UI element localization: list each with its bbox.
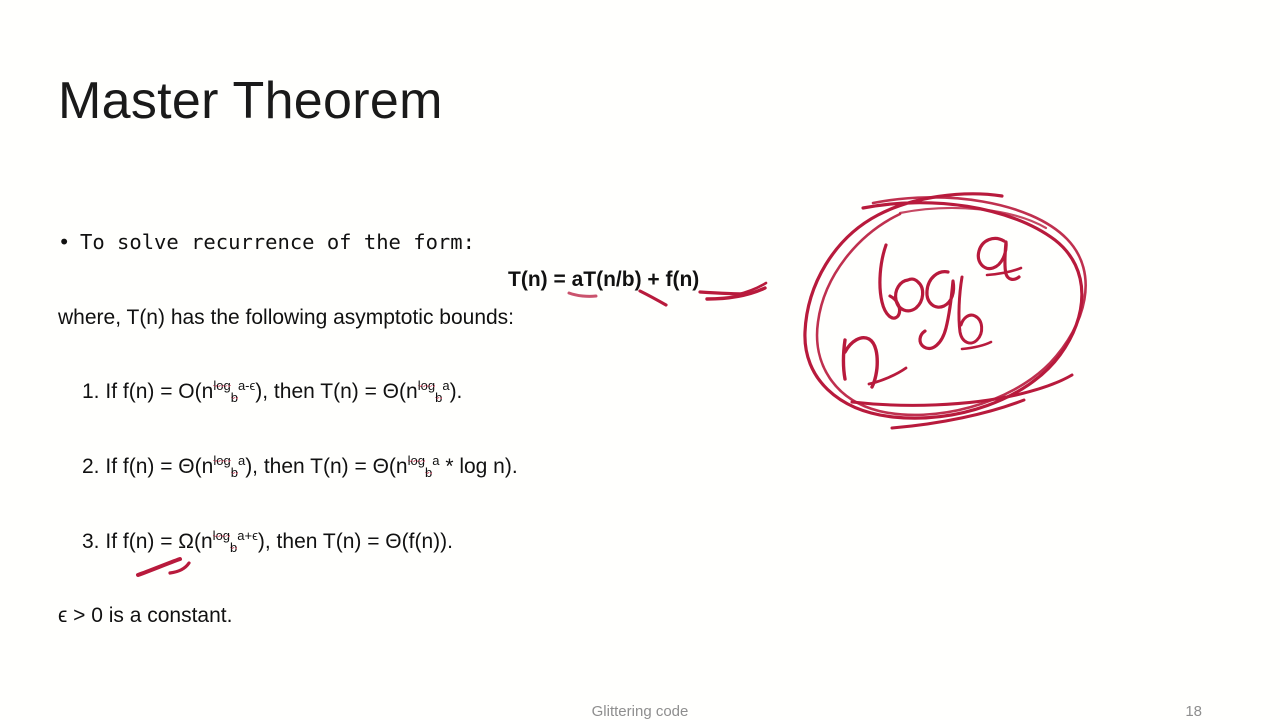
- where-line: where, T(n) has the following asymptotic…: [58, 306, 514, 330]
- bullet-line: •To solve recurrence of the form:: [58, 230, 475, 254]
- ink-handwriting-sub-b: [959, 277, 991, 349]
- case-3-prefix: If f(n) = Ω(n: [105, 530, 212, 553]
- ink-ellipse: [805, 194, 1086, 418]
- slide-canvas: Master Theorem •To solve recurrence of t…: [0, 0, 1280, 720]
- page-number: 18: [1185, 703, 1202, 720]
- case-1-number: 1.: [82, 380, 100, 403]
- case-2: 2. If f(n) = Θ(nlogba), then T(n) = Θ(nl…: [82, 455, 518, 479]
- case-3-sup-arg: a+ϵ: [237, 528, 258, 543]
- case-1-suffix: ).: [450, 380, 463, 403]
- case-1-sup-arg-2: a: [442, 378, 449, 393]
- footer-label: Glittering code: [0, 703, 1280, 720]
- case-1-middle: ), then T(n) = Θ(n: [255, 380, 417, 403]
- ink-handwriting-log: [880, 245, 954, 348]
- case-2-suffix: * log n).: [439, 455, 517, 478]
- case-1: 1. If f(n) = O(nlogba-ϵ), then T(n) = Θ(…: [82, 380, 462, 404]
- ink-handwriting-sup-a: [978, 238, 1021, 279]
- case-1-prefix: If f(n) = O(n: [105, 380, 213, 403]
- bullet-marker-icon: •: [58, 230, 80, 254]
- case-2-prefix: If f(n) = Θ(n: [105, 455, 213, 478]
- case-3-number: 3.: [82, 530, 100, 553]
- recurrence-formula: T(n) = aT(n/b) + f(n): [508, 268, 699, 292]
- case-2-middle: ), then T(n) = Θ(n: [245, 455, 407, 478]
- case-3: 3. If f(n) = Ω(nlogba+ϵ), then T(n) = Θ(…: [82, 530, 453, 554]
- case-3-middle: ), then T(n) = Θ(f(n)).: [258, 530, 453, 553]
- ink-handwriting-n: [844, 338, 907, 387]
- bullet-text: To solve recurrence of the form:: [80, 230, 475, 254]
- constant-line: ϵ > 0 is a constant.: [58, 604, 232, 628]
- case-2-number: 2.: [82, 455, 100, 478]
- ink-flourish-strokes: [852, 375, 1072, 428]
- case-1-sup-arg: a-ϵ: [238, 378, 255, 393]
- slide-body: •To solve recurrence of the form: T(n) =…: [0, 0, 790, 720]
